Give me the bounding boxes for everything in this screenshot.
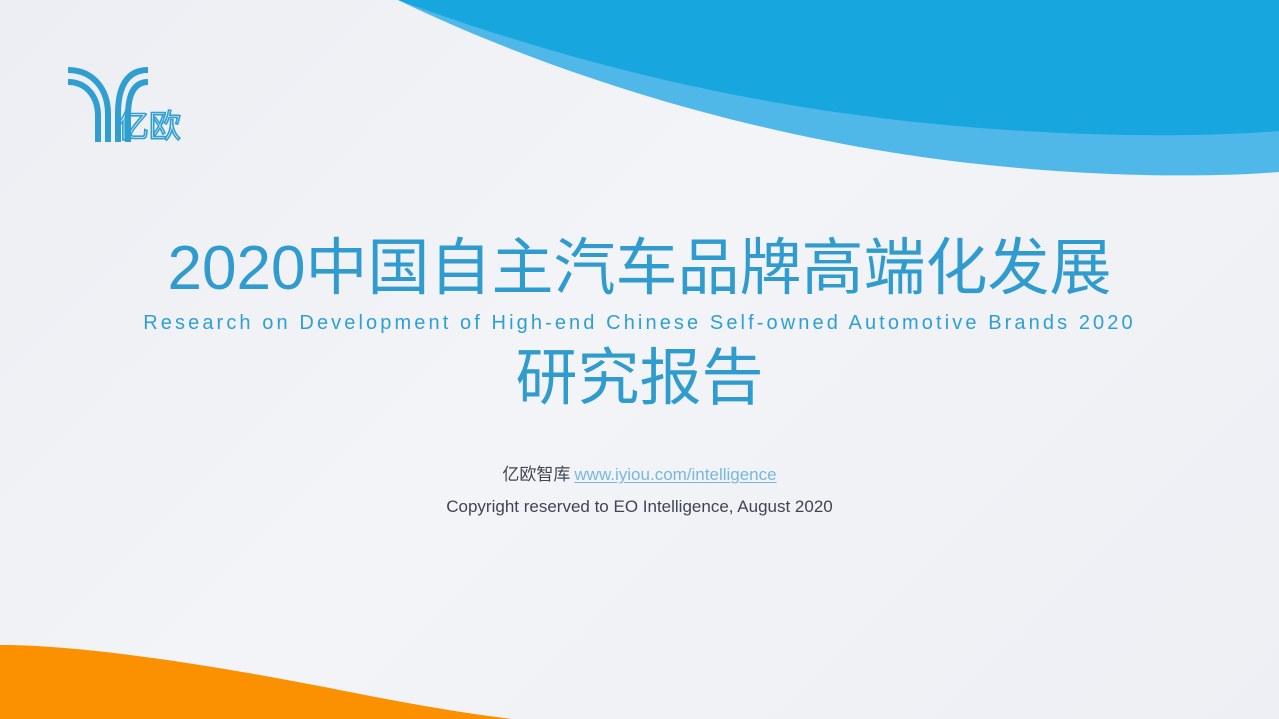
yiou-wordmark-icon: 亿欧 xyxy=(117,105,197,147)
page-subtitle-chinese: 研究报告 xyxy=(0,342,1279,416)
page-title-english: Research on Development of High-end Chin… xyxy=(0,308,1279,338)
brand-logo: 亿欧 xyxy=(60,48,260,152)
copyright-line: Copyright reserved to EO Intelligence, A… xyxy=(0,494,1279,520)
top-blue-wave-dark xyxy=(398,0,1279,135)
publisher-name: 亿欧智库 xyxy=(502,465,570,484)
title-slide: 亿欧 2020中国自主汽车品牌高端化发展 Research on Develop… xyxy=(0,0,1279,719)
page-title-chinese: 2020中国自主汽车品牌高端化发展 xyxy=(0,232,1279,306)
credits-group: 亿欧智库www.iyiou.com/intelligence Copyright… xyxy=(0,462,1279,520)
publisher-url-link[interactable]: www.iyiou.com/intelligence xyxy=(574,465,776,484)
logo-wordmark: 亿欧 xyxy=(117,105,197,152)
logo-wordmark-text: 亿欧 xyxy=(117,108,181,144)
top-blue-wave-light xyxy=(398,0,1279,175)
title-group: 2020中国自主汽车品牌高端化发展 Research on Developmen… xyxy=(0,232,1279,416)
publisher-line: 亿欧智库www.iyiou.com/intelligence xyxy=(0,462,1279,488)
bottom-orange-wave xyxy=(0,645,512,719)
